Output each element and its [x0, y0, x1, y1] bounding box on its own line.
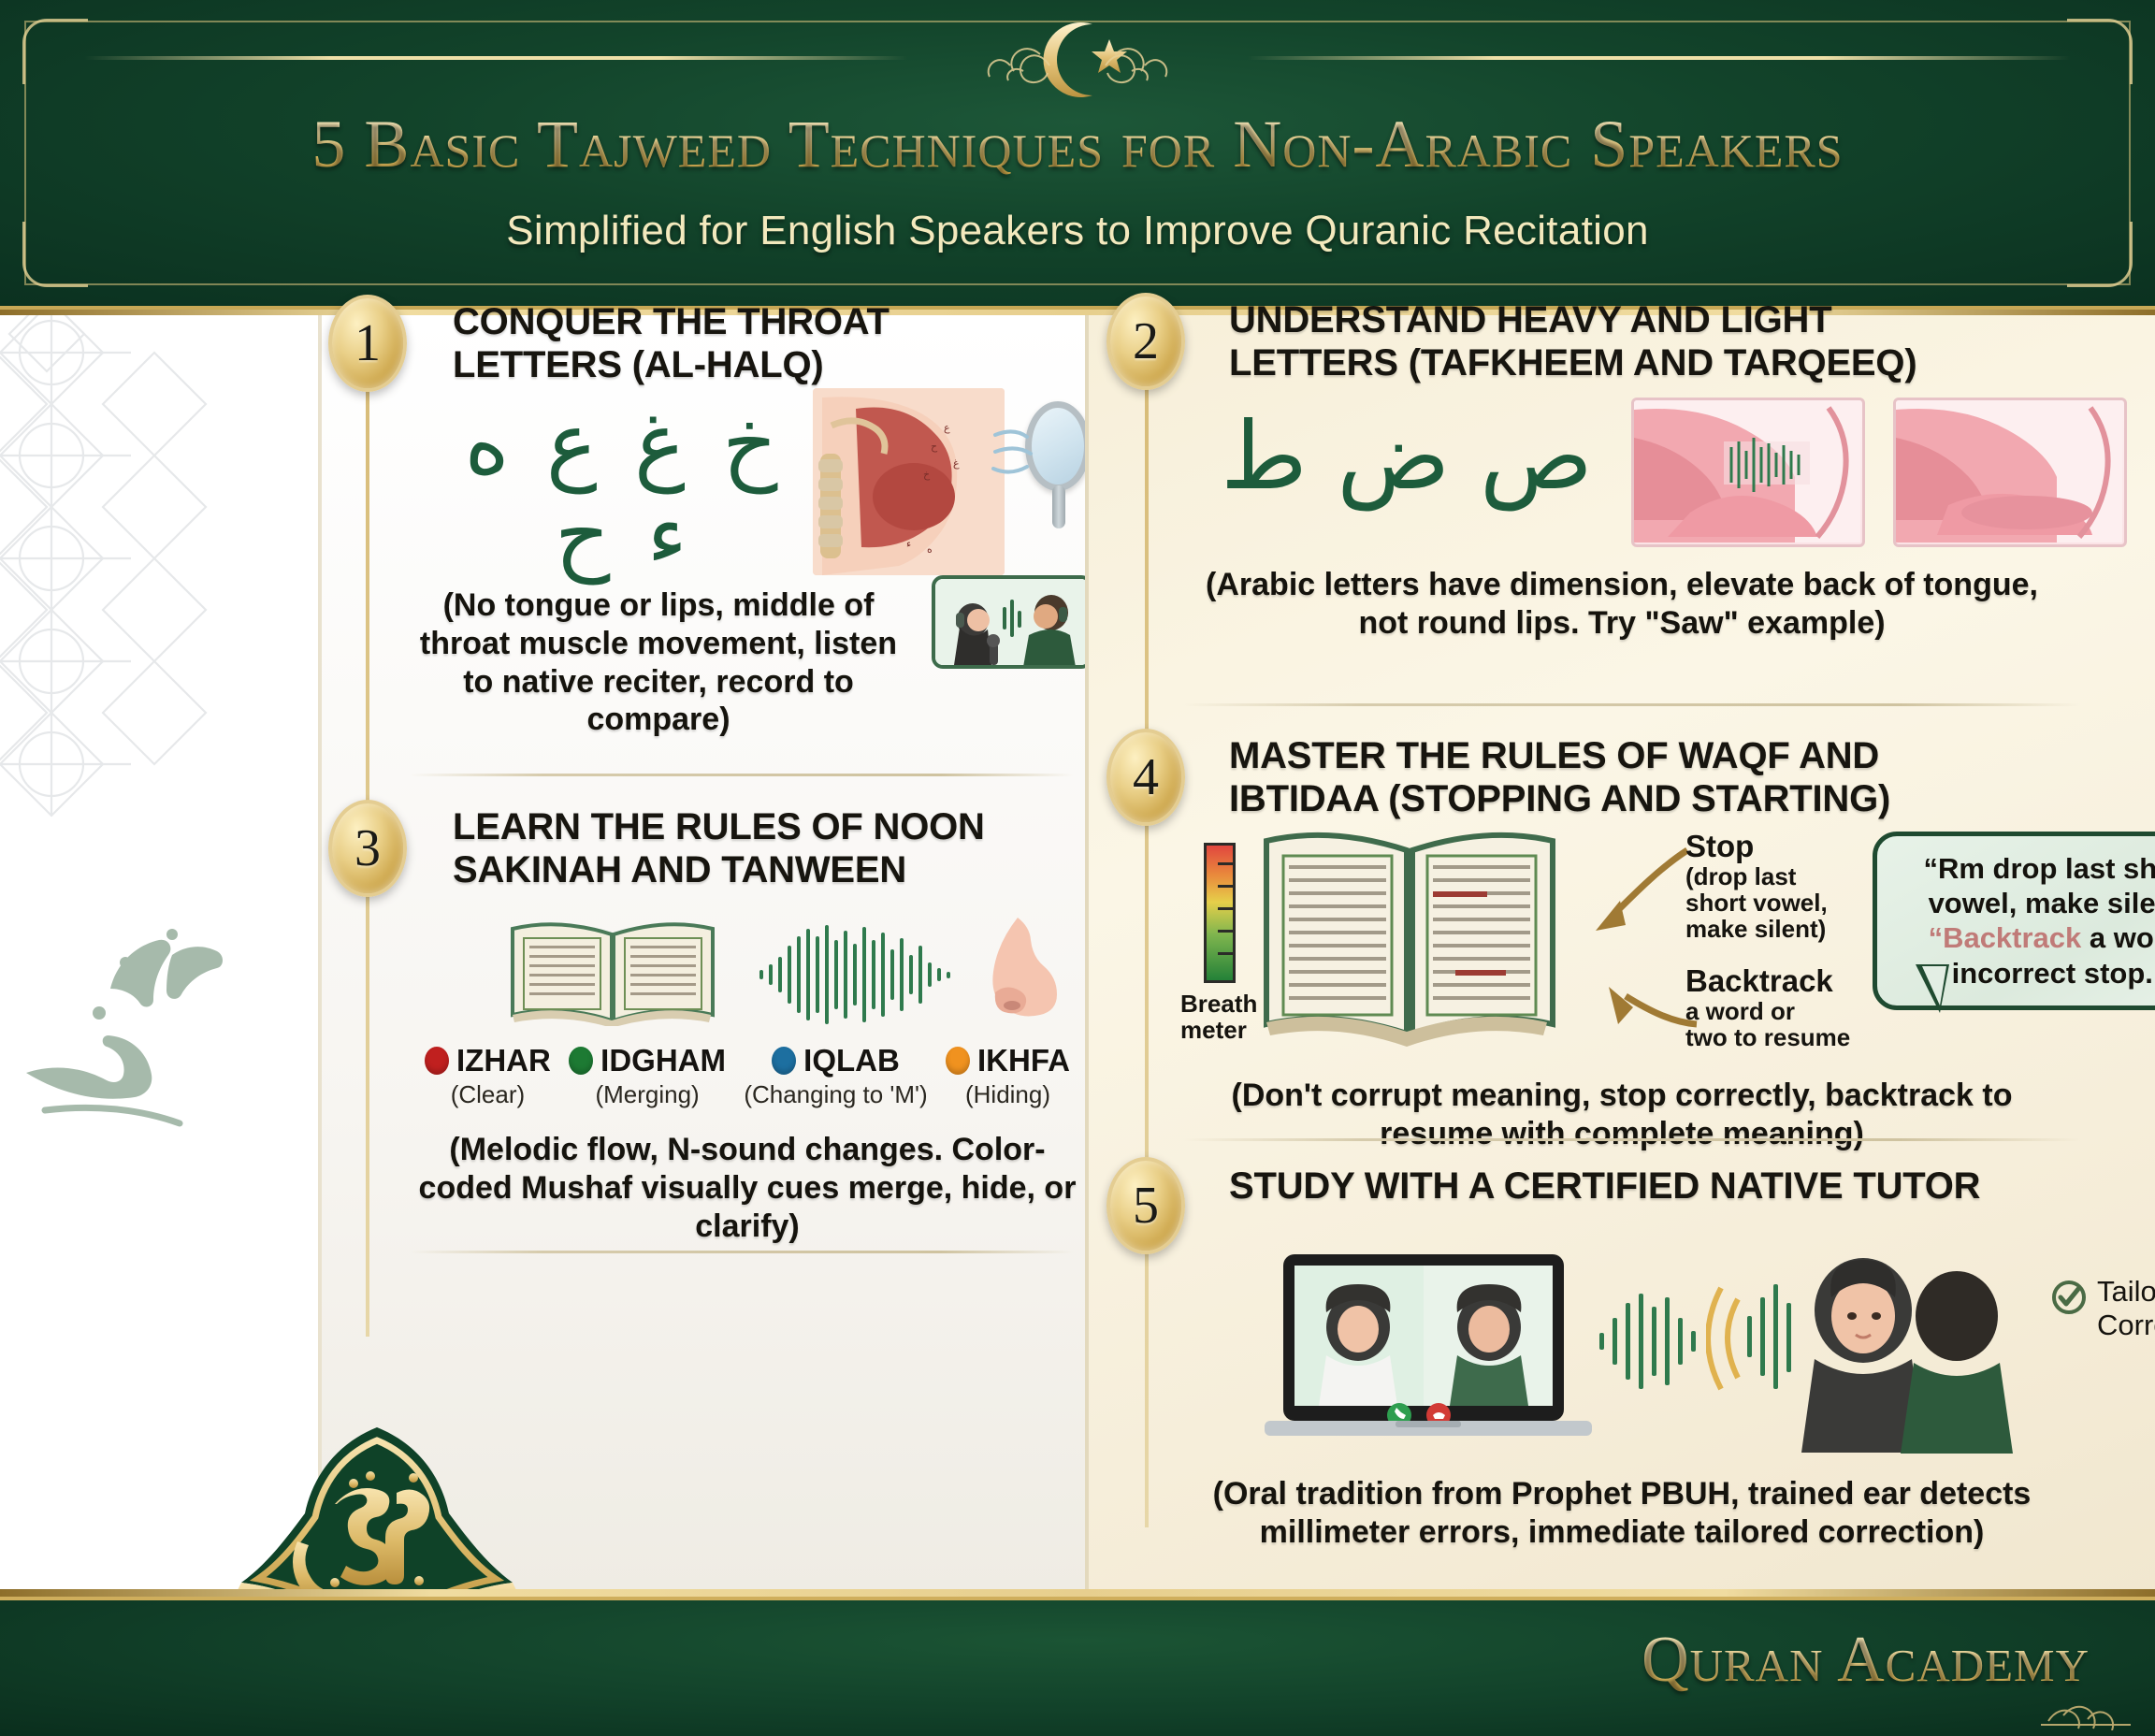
annotation-backtrack-d1: a word or: [1685, 998, 1873, 1024]
annotation-stop-d1: (drop last: [1685, 863, 1854, 890]
left-ornament-strip: [0, 315, 318, 1596]
section-card-1: 1 CONQUER THE THROAT LETTERS (AL-HALQ) خ…: [322, 315, 1089, 783]
section-number-badge-3: 3: [328, 800, 407, 897]
content-area: 1 CONQUER THE THROAT LETTERS (AL-HALQ) خ…: [0, 315, 2155, 1596]
section-divider-left: [410, 774, 1074, 776]
breath-airflow-icon: [990, 420, 1038, 485]
breath-meter-label-line2: meter: [1180, 1017, 1247, 1043]
legend-item-iqlab: IQLAB (Changing to 'M'): [744, 1043, 927, 1109]
legend-dot-izhar: [425, 1047, 449, 1075]
mirror-handle: [1052, 485, 1065, 528]
legend-sub-iqlab: (Changing to 'M'): [744, 1080, 927, 1109]
legend-sub-ikhfa: (Hiding): [946, 1080, 1070, 1109]
section-number-badge-4: 4: [1106, 729, 1185, 826]
section-title-1: CONQUER THE THROAT LETTERS (AL-HALQ): [453, 300, 976, 387]
header-rule-right: [1248, 56, 2071, 60]
geometric-pattern: [0, 315, 271, 1325]
breath-meter-label-line1: Breath: [1180, 991, 1257, 1017]
legend-dot-idgham: [569, 1047, 593, 1075]
meter-tick: [1218, 885, 1233, 888]
noon-rules-legend: IZHAR (Clear) IDGHAM (Merging) IQLAB (Ch…: [425, 1043, 1070, 1109]
bubble-line-3: a: [2081, 921, 2105, 954]
section-card-4: 4 MASTER THE RULES OF WAQF AND IBTIDAA (…: [1089, 712, 2155, 1142]
tutor-and-student: [1706, 1243, 2033, 1454]
header-banner: 5 Basic Tajweed Techniques for Non-Arabi…: [0, 0, 2155, 311]
arabic-calligraphy-ornament: [0, 876, 269, 1157]
svg-text:ح: ح: [931, 441, 938, 453]
section-card-5: 5 STUDY WITH A CERTIFIED NATIVE TUTOR: [1089, 1150, 2155, 1542]
left-column: 1 CONQUER THE THROAT LETTERS (AL-HALQ) خ…: [318, 315, 1085, 1596]
section-title-3: LEARN THE RULES OF NOON SAKINAH AND TANW…: [453, 805, 995, 892]
annotation-stop-d3: make silent): [1685, 916, 1854, 942]
mouth-cross-section-heavy: [1631, 398, 1865, 547]
legend-label-izhar: IZHAR: [456, 1043, 551, 1078]
nose-illustration: [967, 916, 1061, 1028]
legend-sub-idgham: (Merging): [569, 1080, 726, 1109]
section-title-5: STUDY WITH A CERTIFIED NATIVE TUTOR: [1229, 1165, 2033, 1208]
arabic-letters-2: ص ض ط: [1192, 407, 1622, 505]
section-caption-2: (Arabic letters have dimension, elevate …: [1182, 566, 2061, 643]
section-card-2: 2 UNDERSTAND HEAVY AND LIGHT LETTERS (TA…: [1089, 315, 2155, 615]
arabic-letters-1: خ غ ع ه ء ح: [443, 399, 799, 580]
meter-tick: [1218, 930, 1233, 933]
section-number-badge-2: 2: [1106, 293, 1185, 390]
open-quran-book-4: [1255, 820, 1564, 1054]
infographic-poster: 5 Basic Tajweed Techniques for Non-Arabi…: [0, 0, 2155, 1736]
legend-label-iqlab: IQLAB: [803, 1043, 900, 1078]
legend-dot-ikhfa: [946, 1047, 970, 1075]
backtrack-arrow: [1556, 957, 1706, 1041]
meter-tick: [1218, 862, 1233, 865]
legend-item-izhar: IZHAR (Clear): [425, 1043, 551, 1109]
check-circle-icon: [2050, 1279, 2088, 1316]
page-subtitle: Simplified for English Speakers to Impro…: [0, 208, 2155, 254]
legend-label-ikhfa: IKHFA: [977, 1043, 1070, 1078]
section-caption-4: (Don't corrupt meaning, stop correctly, …: [1182, 1077, 2061, 1153]
meter-tick: [1218, 952, 1233, 955]
laptop-video-call: [1265, 1254, 1592, 1451]
legend-item-ikhfa: IKHFA (Hiding): [946, 1043, 1070, 1109]
section-number-badge-1: 1: [328, 295, 407, 392]
footer-flourish-icon: [2035, 1674, 2138, 1730]
section-caption-5: (Oral tradition from Prophet PBUH, train…: [1182, 1475, 2061, 1552]
section-divider-right-1: [1182, 703, 2080, 706]
bubble-highlight: “Backtrack: [1929, 921, 2082, 954]
section-divider-left-2: [410, 1251, 1074, 1253]
svg-text:غ: غ: [953, 457, 960, 470]
right-column: 2 UNDERSTAND HEAVY AND LIGHT LETTERS (TA…: [1085, 315, 2155, 1596]
section-divider-right-2: [1182, 1138, 2080, 1141]
svg-text:خ: خ: [923, 469, 931, 481]
svg-text:ع: ع: [944, 422, 950, 434]
tailored-correction-line2: Correction: [2097, 1309, 2155, 1341]
throat-anatomy-diagram: عح غخ ءه: [813, 388, 1005, 575]
mouth-cross-section-light: [1893, 398, 2127, 547]
annotation-stop-heading: Stop: [1685, 830, 1854, 863]
meter-tick: [1218, 907, 1233, 910]
speech-bubble-tail: [1916, 964, 1949, 1013]
audio-waveform-3: [758, 923, 963, 1026]
legend-sub-izhar: (Clear): [425, 1080, 551, 1109]
legend-dot-iqlab: [772, 1047, 796, 1075]
legend-item-idgham: IDGHAM (Merging): [569, 1043, 726, 1109]
page-title: 5 Basic Tajweed Techniques for Non-Arabi…: [0, 110, 2155, 178]
svg-text:ه: ه: [927, 543, 933, 556]
bubble-line-2: make silent,: [2025, 887, 2155, 919]
footer-banner: Quran Academy: [0, 1596, 2155, 1736]
section-card-3: 3 LEARN THE RULES OF NOON SAKINAH AND TA…: [322, 783, 1089, 1176]
annotation-backtrack-d2: two to resume: [1685, 1024, 1873, 1050]
podcast-recording-photo: [932, 575, 1092, 669]
section-number-badge-5: 5: [1106, 1157, 1185, 1254]
section-caption-1: (No tongue or lips, middle of throat mus…: [415, 586, 902, 739]
svg-text:ء: ء: [906, 538, 911, 550]
audio-waveform-5: [1596, 1290, 1708, 1393]
open-quran-book-3: [505, 914, 720, 1026]
crescent-star-icon: [909, 17, 1246, 103]
annotation-backtrack: Backtrack a word or two to resume: [1685, 964, 1873, 1050]
section-title-2: UNDERSTAND HEAVY AND LIGHT LETTERS (TAFK…: [1229, 298, 1940, 385]
stop-arrow: [1556, 841, 1697, 944]
section-caption-3: (Melodic flow, N-sound changes. Color-co…: [406, 1131, 1089, 1245]
section-title-4: MASTER THE RULES OF WAQF AND IBTIDAA (ST…: [1229, 734, 1940, 821]
legend-label-idgham: IDGHAM: [600, 1043, 726, 1078]
annotation-backtrack-heading: Backtrack: [1685, 964, 1873, 998]
tailored-correction-line1: Tailored: [2097, 1275, 2155, 1308]
brand-name: Quran Academy: [1642, 1623, 2090, 1698]
header-rule-left: [84, 56, 907, 60]
annotation-stop-d2: short vowel,: [1685, 890, 1854, 916]
annotation-stop: Stop (drop last short vowel, make silent…: [1685, 830, 1854, 942]
breath-meter: [1204, 843, 1236, 983]
